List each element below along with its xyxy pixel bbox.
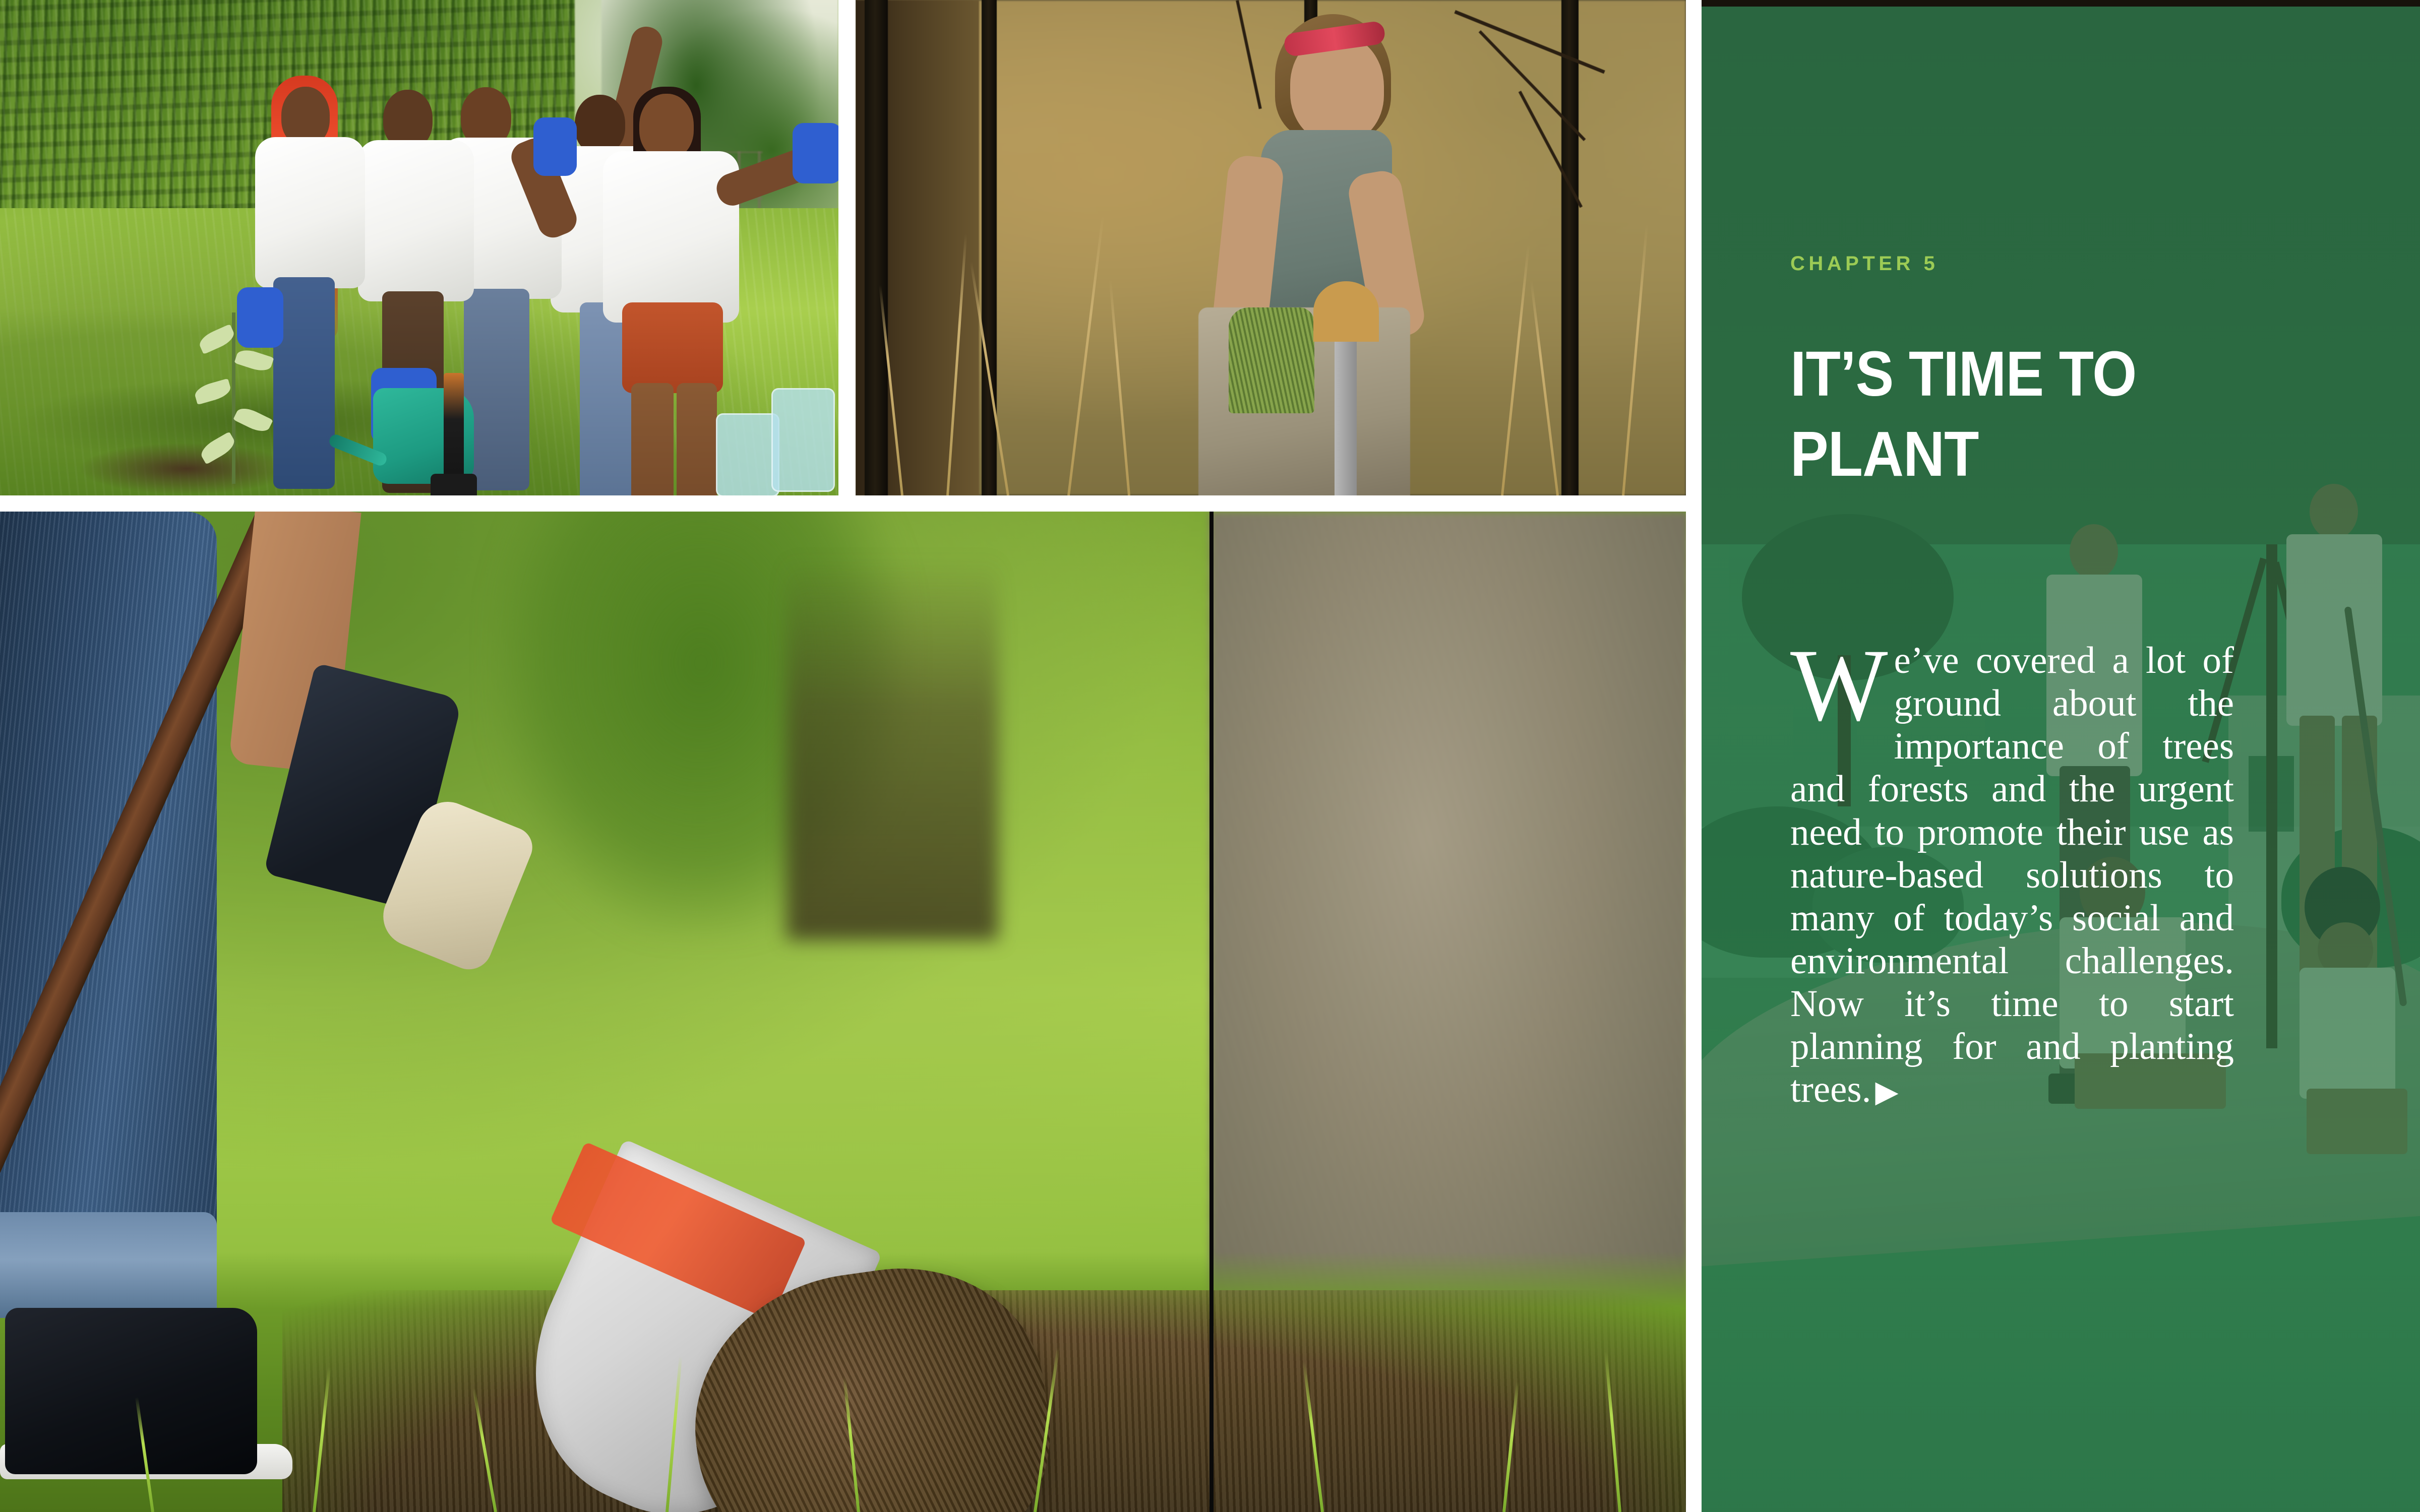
photo-gutter-vertical [838, 0, 856, 495]
burnt-trunk [982, 0, 997, 495]
spade-shovel [444, 373, 464, 489]
illustration-child [2271, 867, 2420, 1200]
blurred-shrub [1210, 512, 1686, 1328]
white-tshirt [603, 151, 739, 323]
page-title-line-1: IT’S TIME TO [1790, 334, 2289, 414]
water-jug [771, 388, 835, 492]
page-spine-line [1209, 512, 1214, 1512]
blue-glove [793, 123, 838, 183]
photo-forest-planter [856, 0, 1686, 495]
leaf [197, 324, 237, 354]
photo-gutter-right [1686, 0, 1702, 1512]
page-title: IT’S TIME TO PLANT [1790, 334, 2289, 494]
legs [2307, 1089, 2407, 1154]
leg-right [677, 383, 717, 495]
play-triangle-icon: ▶ [1871, 1077, 1898, 1107]
photo-volunteers-planting [0, 0, 838, 495]
head [639, 94, 694, 159]
tree-planter-woman [1208, 5, 1491, 495]
drop-cap: W [1790, 639, 1894, 727]
chapter-kicker: CHAPTER 5 [1790, 254, 1939, 274]
chapter-intro-paragraph: We’ve covered a lot of ground about the … [1790, 639, 2234, 1111]
photo-gutter-horizontal [0, 495, 1702, 512]
rubber-boot [5, 1308, 257, 1474]
jeans-cuff [0, 1212, 217, 1318]
white-tshirt [255, 137, 365, 288]
illustration-near-lawn [1702, 1169, 2420, 1512]
leg-left [631, 383, 674, 495]
head [2310, 484, 2358, 539]
page-title-line-2: PLANT [1790, 414, 2289, 494]
torso [2286, 534, 2382, 726]
burnt-trunk [1561, 0, 1579, 495]
seedling-bundle [1229, 307, 1314, 413]
blurred-tree-trunk [786, 557, 998, 940]
sapling-stem [232, 312, 235, 484]
chapter-panel: CHAPTER 5 IT’S TIME TO PLANT We’ve cover… [1702, 0, 2420, 1512]
blue-glove [533, 117, 577, 176]
dibble-tool-handle [1313, 281, 1379, 342]
leaf [233, 404, 273, 435]
photo-shovel-digging [0, 512, 1686, 1512]
burnt-trunk [865, 0, 888, 495]
planted-sapling [166, 312, 297, 494]
leaf [234, 347, 274, 374]
chapter-opener-spread: CHAPTER 5 IT’S TIME TO PLANT We’ve cover… [0, 0, 2420, 1512]
torso [2300, 968, 2395, 1099]
leaf [193, 379, 233, 405]
water-jug [716, 413, 779, 495]
head [2070, 524, 2118, 580]
panel-top-rule [1702, 0, 2420, 7]
orange-shorts [622, 302, 723, 393]
